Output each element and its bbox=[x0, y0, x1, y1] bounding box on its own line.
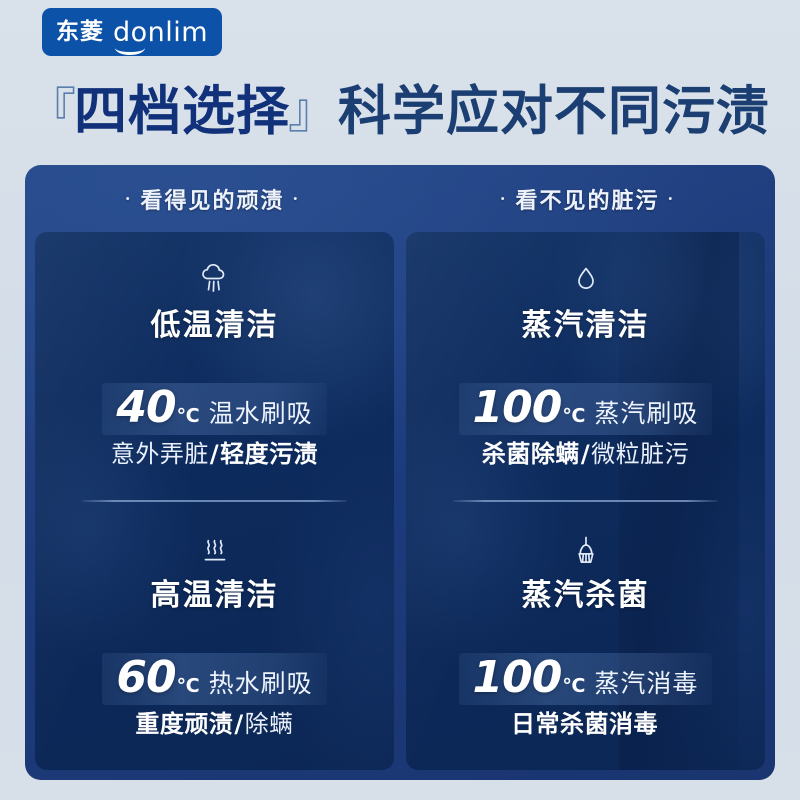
logo-wordmark: donlim bbox=[113, 19, 208, 46]
mode-steam-clean[interactable]: 蒸汽清洁 100 ℃ 蒸汽刷吸 杀菌除螨 / 微粒脏污 bbox=[406, 232, 765, 500]
mode-title: 蒸汽杀菌 bbox=[522, 581, 650, 611]
bracket-close: 』 bbox=[288, 87, 336, 135]
panel-visible-stains: 低温清洁 40 ℃ 温水刷吸 意外弄脏 / 轻度污渍 bbox=[35, 232, 394, 770]
usage-separator: / bbox=[234, 711, 243, 739]
column-header-label: 看不见的脏污 bbox=[515, 183, 659, 215]
column-header-visible-stains: · 看得见的顽渍 · bbox=[25, 165, 400, 232]
brand-logo: 东菱 donlim bbox=[42, 8, 222, 56]
temperature-description: 温水刷吸 bbox=[209, 401, 313, 426]
smile-curve-icon bbox=[115, 41, 145, 55]
mode-title: 低温清洁 bbox=[151, 311, 279, 341]
temperature-value: 100 bbox=[473, 386, 562, 430]
column-header-invisible-dirt: · 看不见的脏污 · bbox=[400, 165, 775, 232]
mode-high-temp-clean[interactable]: 高温清洁 60 ℃ 热水刷吸 重度顽渍 / 除螨 bbox=[35, 502, 394, 770]
usage-light-text: 除螨 bbox=[245, 711, 294, 739]
usage-row: 日常杀菌消毒 bbox=[511, 711, 660, 739]
steam-heat-icon bbox=[195, 529, 235, 571]
page-title: 『四档选择』科学应对不同污渍 bbox=[0, 78, 800, 144]
temperature-unit: ℃ bbox=[177, 407, 200, 426]
temperature-row: 100 ℃ 蒸汽消毒 bbox=[459, 653, 713, 705]
panel-invisible-dirt: 蒸汽清洁 100 ℃ 蒸汽刷吸 杀菌除螨 / 微粒脏污 bbox=[406, 232, 765, 770]
mode-steam-sterilize[interactable]: 蒸汽杀菌 100 ℃ 蒸汽消毒 日常杀菌消毒 bbox=[406, 502, 765, 770]
usage-row: 意外弄脏 / 轻度污渍 bbox=[111, 441, 318, 469]
temperature-description: 蒸汽消毒 bbox=[594, 671, 698, 696]
usage-separator: / bbox=[210, 441, 219, 469]
header-dot-left: · bbox=[500, 189, 508, 208]
mode-low-temp-clean[interactable]: 低温清洁 40 ℃ 温水刷吸 意外弄脏 / 轻度污渍 bbox=[35, 232, 394, 500]
usage-light-text: 微粒脏污 bbox=[591, 441, 689, 469]
usage-row: 杀菌除螨 / 微粒脏污 bbox=[482, 441, 689, 469]
broom-icon bbox=[566, 529, 606, 571]
temperature-description: 蒸汽刷吸 bbox=[594, 401, 698, 426]
header-dot-right: · bbox=[293, 189, 301, 208]
temperature-row: 100 ℃ 蒸汽刷吸 bbox=[459, 383, 713, 435]
usage-separator: / bbox=[581, 441, 590, 469]
temperature-description: 热水刷吸 bbox=[209, 671, 313, 696]
bracket-open: 『 bbox=[28, 87, 76, 135]
column-headers: · 看得见的顽渍 · · 看不见的脏污 · bbox=[25, 165, 775, 232]
headline-keyword: 四档选择 bbox=[74, 85, 290, 138]
water-droplet-icon bbox=[566, 259, 606, 301]
mode-panels: 低温清洁 40 ℃ 温水刷吸 意外弄脏 / 轻度污渍 bbox=[35, 232, 765, 770]
usage-strong-text: 轻度污渍 bbox=[220, 441, 318, 469]
usage-strong-text: 日常杀菌消毒 bbox=[511, 711, 658, 739]
mode-title: 高温清洁 bbox=[151, 581, 279, 611]
temperature-value: 60 bbox=[116, 656, 175, 700]
features-card: · 看得见的顽渍 · · 看不见的脏污 · 低 bbox=[25, 165, 775, 780]
temperature-value: 40 bbox=[116, 386, 175, 430]
spray-cloud-icon bbox=[195, 259, 235, 301]
usage-strong-text: 重度顽渍 bbox=[135, 711, 233, 739]
temperature-value: 100 bbox=[473, 656, 562, 700]
temperature-row: 40 ℃ 温水刷吸 bbox=[102, 383, 326, 435]
usage-light-text: 意外弄脏 bbox=[111, 441, 209, 469]
temperature-unit: ℃ bbox=[177, 677, 200, 696]
header-dot-left: · bbox=[125, 189, 133, 208]
temperature-row: 60 ℃ 热水刷吸 bbox=[102, 653, 326, 705]
temperature-unit: ℃ bbox=[562, 407, 585, 426]
logo-chinese-text: 东菱 bbox=[56, 21, 104, 44]
mode-title: 蒸汽清洁 bbox=[522, 311, 650, 341]
logo-plate: 东菱 donlim bbox=[42, 8, 222, 56]
column-header-label: 看得见的顽渍 bbox=[140, 183, 284, 215]
temperature-unit: ℃ bbox=[562, 677, 585, 696]
header-dot-right: · bbox=[668, 189, 676, 208]
usage-strong-text: 杀菌除螨 bbox=[482, 441, 580, 469]
headline-rest: 科学应对不同污渍 bbox=[338, 85, 770, 138]
usage-row: 重度顽渍 / 除螨 bbox=[135, 711, 293, 739]
